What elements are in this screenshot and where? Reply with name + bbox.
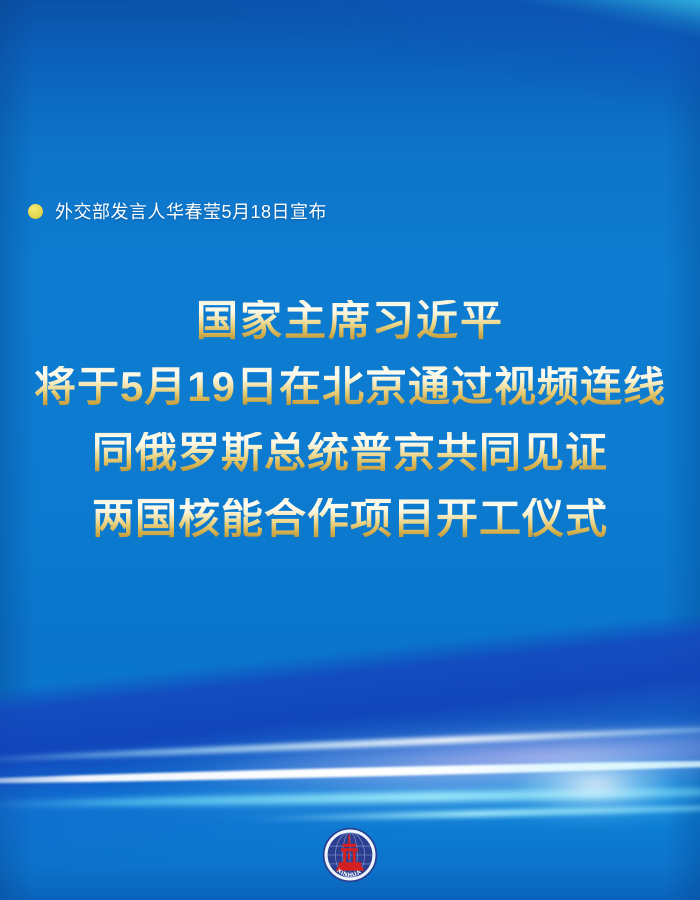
headline-line-3-text: 同俄罗斯总统普京共同见证 <box>92 432 608 474</box>
headline-line-4-text: 两国核能合作项目开工仪式 <box>92 498 608 540</box>
headline-line-2-text: 将于5月19日在北京通过视频连线 <box>34 366 666 408</box>
xinhua-logo-icon: XINHUA <box>322 827 378 883</box>
headline-line-1: 国家主席习近平 国家主席习近平 <box>0 300 700 342</box>
bullet-dot-icon <box>28 204 43 219</box>
headline-line-3: 同俄罗斯总统普京共同见证 同俄罗斯总统普京共同见证 <box>0 432 700 474</box>
kicker-text: 外交部发言人华春莹5月18日宣布 <box>55 198 327 224</box>
kicker-line: 外交部发言人华春莹5月18日宣布 <box>28 198 327 224</box>
headline-line-4: 两国核能合作项目开工仪式 两国核能合作项目开工仪式 <box>0 498 700 540</box>
headline-line-1-text: 国家主席习近平 <box>196 300 504 342</box>
headline-block: 国家主席习近平 国家主席习近平 将于5月19日在北京通过视频连线 将于5月19日… <box>0 300 700 540</box>
news-graphic-poster: 外交部发言人华春莹5月18日宣布 国家主席习近平 国家主席习近平 将于5月19日… <box>0 0 700 900</box>
poster-content: 外交部发言人华春莹5月18日宣布 国家主席习近平 国家主席习近平 将于5月19日… <box>0 0 700 900</box>
headline-line-2: 将于5月19日在北京通过视频连线 将于5月19日在北京通过视频连线 <box>0 366 700 408</box>
